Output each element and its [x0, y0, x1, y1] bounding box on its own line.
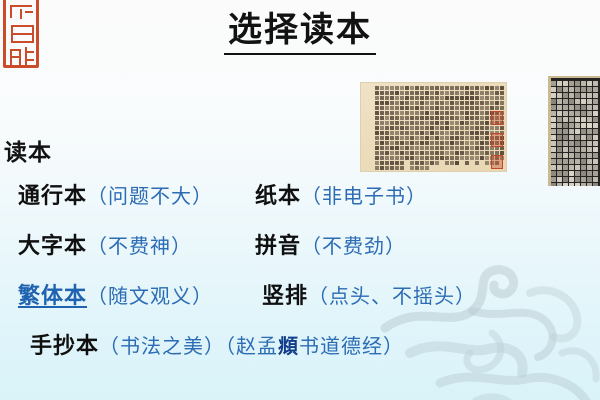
calligraphy-glyph	[390, 91, 394, 95]
calligraphy-column	[587, 81, 592, 186]
calligraphy-glyph	[490, 96, 494, 100]
calligraphy-glyph	[551, 147, 556, 152]
calligraphy-glyph	[375, 136, 379, 140]
calligraphy-glyph	[435, 101, 439, 105]
calligraphy-column	[375, 86, 379, 170]
calligraphy-glyph	[593, 165, 598, 170]
calligraphy-glyph	[395, 111, 399, 115]
calligraphy-glyph	[425, 131, 429, 135]
calligraphy-glyph	[563, 111, 568, 116]
calligraphy-glyph	[569, 159, 574, 164]
calligraphy-glyph	[563, 93, 568, 98]
calligraphy-glyph	[405, 146, 409, 150]
calligraphy-glyph	[420, 136, 424, 140]
calligraphy-glyph	[405, 141, 409, 145]
calligraphy-glyph	[395, 151, 399, 155]
calligraphy-glyph	[440, 121, 444, 125]
calligraphy-glyph	[450, 131, 454, 135]
calligraphy-glyph	[569, 93, 574, 98]
calligraphy-glyph	[470, 86, 474, 90]
calligraphy-glyph	[480, 136, 484, 140]
calligraphy-glyph	[587, 171, 592, 176]
calligraphy-glyph	[440, 141, 444, 145]
calligraphy-glyph	[593, 87, 598, 92]
calligraphy-glyph	[415, 121, 419, 125]
calligraphy-glyph	[395, 116, 399, 120]
calligraphy-glyph	[460, 101, 464, 105]
calligraphy-glyph	[581, 123, 586, 128]
calligraphy-glyph	[551, 81, 556, 86]
calligraphy-glyph	[593, 99, 598, 104]
edition-note: （不费劲）	[301, 236, 406, 258]
calligraphy-glyph	[395, 101, 399, 105]
calligraphy-glyph	[455, 86, 459, 90]
calligraphy-glyph	[430, 141, 434, 145]
calligraphy-glyph	[569, 165, 574, 170]
calligraphy-glyph	[575, 141, 580, 146]
calligraphy-glyph	[557, 171, 562, 176]
calligraphy-glyph	[425, 121, 429, 125]
calligraphy-glyph	[455, 111, 459, 115]
calligraphy-glyph	[455, 91, 459, 95]
calligraphy-glyph	[405, 86, 409, 90]
calligraphy-glyph	[375, 131, 379, 135]
calligraphy-glyph	[425, 126, 429, 130]
calligraphy-glyph	[587, 123, 592, 128]
calligraphy-glyph	[425, 106, 429, 110]
calligraphy-glyph	[460, 121, 464, 125]
calligraphy-glyph	[380, 96, 384, 100]
calligraphy-glyph	[569, 135, 574, 140]
calligraphy-glyph	[380, 116, 384, 120]
calligraphy-glyph	[480, 106, 484, 110]
calligraphy-glyph	[400, 121, 404, 125]
calligraphy-glyph	[395, 126, 399, 130]
calligraphy-glyph	[460, 141, 464, 145]
manuscript-seal-icon	[491, 155, 503, 169]
calligraphy-glyph	[563, 81, 568, 86]
calligraphy-glyph	[485, 146, 489, 150]
calligraphy-glyph	[475, 151, 479, 155]
calligraphy-glyph	[551, 165, 556, 170]
list-item-left: 大字本（不费神）	[18, 230, 192, 263]
calligraphy-glyph	[410, 111, 414, 115]
calligraphy-glyph	[410, 116, 414, 120]
calligraphy-manuscript-image	[360, 82, 507, 172]
calligraphy-glyph	[455, 136, 459, 140]
calligraphy-glyph	[410, 161, 414, 165]
calligraphy-glyph	[575, 87, 580, 92]
calligraphy-glyph	[593, 153, 598, 158]
list-item: 手抄本（书法之美）（赵孟頫书道德经）	[0, 330, 600, 380]
calligraphy-glyph	[420, 96, 424, 100]
calligraphy-column	[415, 86, 419, 170]
calligraphy-glyph	[551, 129, 556, 134]
calligraphy-glyph	[400, 161, 404, 165]
calligraphy-glyph	[380, 91, 384, 95]
calligraphy-column	[420, 86, 424, 170]
calligraphy-glyph	[485, 136, 489, 140]
calligraphy-glyph	[415, 106, 419, 110]
calligraphy-glyph	[445, 106, 449, 110]
calligraphy-glyph	[420, 146, 424, 150]
section-heading: 读本	[4, 133, 52, 167]
calligraphy-glyph	[480, 86, 484, 90]
calligraphy-glyph	[450, 116, 454, 120]
calligraphy-glyph	[485, 151, 489, 155]
calligraphy-glyph	[405, 111, 409, 115]
calligraphy-glyph	[390, 121, 394, 125]
calligraphy-glyph	[400, 126, 404, 130]
calligraphy-glyph	[385, 86, 389, 90]
calligraphy-glyph	[430, 161, 434, 165]
calligraphy-glyph	[405, 116, 409, 120]
calligraphy-glyph	[480, 96, 484, 100]
calligraphy-glyph	[425, 156, 429, 160]
calligraphy-glyph	[485, 121, 489, 125]
calligraphy-glyph	[575, 147, 580, 152]
calligraphy-glyph	[465, 136, 469, 140]
calligraphy-glyph	[440, 106, 444, 110]
calligraphy-glyph	[380, 121, 384, 125]
calligraphy-glyph	[460, 116, 464, 120]
calligraphy-glyph	[450, 156, 454, 160]
calligraphy-glyph	[375, 161, 379, 165]
calligraphy-glyph	[470, 116, 474, 120]
edition-label-link[interactable]: 繁体本	[18, 283, 87, 308]
calligraphy-glyph	[470, 151, 474, 155]
calligraphy-glyph	[375, 121, 379, 125]
calligraphy-glyph	[380, 131, 384, 135]
calligraphy-glyph	[500, 86, 504, 90]
calligraphy-column	[480, 86, 484, 160]
calligraphy-glyph	[490, 126, 494, 130]
calligraphy-glyph	[440, 91, 444, 95]
calligraphy-glyph	[400, 96, 404, 100]
calligraphy-glyph	[551, 105, 556, 110]
calligraphy-glyph	[445, 111, 449, 115]
calligraphy-glyph	[425, 166, 429, 170]
calligraphy-glyph	[557, 123, 562, 128]
calligraphy-glyph	[470, 146, 474, 150]
calligraphy-glyph	[405, 106, 409, 110]
calligraphy-glyph	[420, 101, 424, 105]
calligraphy-glyph	[445, 156, 449, 160]
calligraphy-glyph	[425, 146, 429, 150]
calligraphy-glyph	[460, 151, 464, 155]
calligraphy-glyph	[425, 101, 429, 105]
calligraphy-glyph	[575, 99, 580, 104]
calligraphy-glyph	[587, 117, 592, 122]
calligraphy-glyph	[581, 147, 586, 152]
calligraphy-glyph	[415, 141, 419, 145]
calligraphy-glyph	[465, 96, 469, 100]
list-item-left: 繁体本（随文观义）	[18, 280, 213, 313]
calligraphy-glyph	[430, 91, 434, 95]
calligraphy-glyph	[410, 166, 414, 170]
calligraphy-glyph	[557, 159, 562, 164]
calligraphy-glyph	[430, 101, 434, 105]
calligraphy-glyph	[485, 96, 489, 100]
calligraphy-glyph	[465, 146, 469, 150]
calligraphy-glyph	[475, 121, 479, 125]
calligraphy-glyph	[581, 165, 586, 170]
calligraphy-glyph	[557, 165, 562, 170]
calligraphy-glyph	[475, 161, 479, 165]
calligraphy-glyph	[575, 129, 580, 134]
calligraphy-glyph	[593, 111, 598, 116]
calligraphy-glyph	[569, 87, 574, 92]
calligraphy-glyph	[485, 91, 489, 95]
calligraphy-glyph	[569, 147, 574, 152]
calligraphy-glyph	[587, 87, 592, 92]
calligraphy-glyph	[430, 131, 434, 135]
calligraphy-glyph	[435, 136, 439, 140]
calligraphy-glyph	[415, 146, 419, 150]
calligraphy-glyph	[385, 146, 389, 150]
calligraphy-glyph	[450, 111, 454, 115]
calligraphy-glyph	[390, 96, 394, 100]
page-title-text: 选择读本	[224, 10, 376, 55]
calligraphy-glyph	[430, 126, 434, 130]
edition-note: （问题不大）	[87, 186, 213, 208]
calligraphy-glyph	[410, 86, 414, 90]
calligraphy-glyph	[563, 129, 568, 134]
calligraphy-glyph	[390, 106, 394, 110]
calligraphy-glyph	[587, 111, 592, 116]
calligraphy-glyph	[480, 131, 484, 135]
calligraphy-glyph	[455, 146, 459, 150]
calligraphy-glyph	[380, 111, 384, 115]
calligraphy-glyph	[430, 116, 434, 120]
calligraphy-glyph	[587, 165, 592, 170]
calligraphy-glyph	[405, 101, 409, 105]
calligraphy-glyph	[485, 106, 489, 110]
calligraphy-glyph	[445, 136, 449, 140]
calligraphy-glyph	[375, 96, 379, 100]
calligraphy-glyph	[380, 106, 384, 110]
calligraphy-glyph	[581, 111, 586, 116]
calligraphy-column	[490, 86, 494, 165]
calligraphy-glyph	[380, 146, 384, 150]
calligraphy-glyph	[475, 156, 479, 160]
calligraphy-glyph	[495, 86, 499, 90]
calligraphy-glyph	[440, 136, 444, 140]
calligraphy-glyph	[400, 86, 404, 90]
calligraphy-glyph	[380, 156, 384, 160]
calligraphy-glyph	[500, 91, 504, 95]
calligraphy-glyph	[390, 141, 394, 145]
calligraphy-glyph	[430, 156, 434, 160]
calligraphy-glyph	[490, 86, 494, 90]
calligraphy-glyph	[435, 116, 439, 120]
edition-note: （点头、不摇头）	[308, 286, 476, 308]
calligraphy-glyph	[375, 106, 379, 110]
calligraphy-glyph	[551, 153, 556, 158]
calligraphy-glyph	[551, 123, 556, 128]
calligraphy-column	[425, 86, 429, 170]
calligraphy-glyph	[440, 86, 444, 90]
calligraphy-glyph	[405, 151, 409, 155]
calligraphy-glyph	[445, 91, 449, 95]
calligraphy-glyph	[593, 117, 598, 122]
calligraphy-glyph	[465, 141, 469, 145]
calligraphy-glyph	[375, 111, 379, 115]
calligraphy-column	[435, 86, 439, 165]
calligraphy-glyph	[420, 86, 424, 90]
calligraphy-glyph	[380, 151, 384, 155]
calligraphy-glyph	[485, 101, 489, 105]
edition-note: （非电子书）	[301, 186, 427, 208]
calligraphy-glyph	[465, 161, 469, 165]
calligraphy-glyph	[480, 146, 484, 150]
calligraphy-glyph	[385, 156, 389, 160]
calligraphy-glyph	[470, 156, 474, 160]
calligraphy-glyph	[563, 99, 568, 104]
calligraphy-glyph	[385, 111, 389, 115]
calligraphy-glyph	[460, 106, 464, 110]
edition-label: 竖排	[262, 283, 308, 308]
calligraphy-glyph	[420, 141, 424, 145]
calligraphy-glyph	[385, 96, 389, 100]
calligraphy-glyph	[380, 126, 384, 130]
calligraphy-glyph	[587, 147, 592, 152]
calligraphy-glyph	[450, 91, 454, 95]
calligraphy-glyph	[415, 86, 419, 90]
calligraphy-column	[593, 81, 598, 186]
calligraphy-glyph	[390, 101, 394, 105]
calligraphy-glyph	[385, 131, 389, 135]
calligraphy-glyph	[390, 161, 394, 165]
calligraphy-glyph	[575, 111, 580, 116]
calligraphy-glyph	[400, 111, 404, 115]
calligraphy-glyph	[435, 96, 439, 100]
calligraphy-glyph	[455, 141, 459, 145]
calligraphy-glyph	[465, 86, 469, 90]
calligraphy-glyph	[415, 116, 419, 120]
edition-note-pre: （赵孟	[225, 336, 278, 358]
calligraphy-glyph	[395, 86, 399, 90]
calligraphy-glyph	[390, 166, 394, 170]
calligraphy-glyph	[455, 96, 459, 100]
calligraphy-glyph	[395, 166, 399, 170]
calligraphy-column	[450, 86, 454, 165]
list-item-left: 通行本（问题不大）	[18, 180, 213, 213]
calligraphy-glyph	[385, 136, 389, 140]
calligraphy-glyph	[400, 141, 404, 145]
calligraphy-glyph	[569, 81, 574, 86]
calligraphy-glyph	[581, 135, 586, 140]
calligraphy-glyph	[420, 111, 424, 115]
calligraphy-glyph	[593, 81, 598, 86]
edition-label: 通行本	[18, 183, 87, 208]
calligraphy-glyph	[557, 141, 562, 146]
edition-note: （随文观义）	[87, 286, 213, 308]
calligraphy-glyph	[395, 136, 399, 140]
list-item: 繁体本（随文观义） 竖排（点头、不摇头）	[0, 280, 600, 330]
calligraphy-glyph	[593, 123, 598, 128]
calligraphy-glyph	[575, 93, 580, 98]
calligraphy-glyph	[415, 156, 419, 160]
calligraphy-glyph	[415, 166, 419, 170]
calligraphy-glyph	[563, 87, 568, 92]
calligraphy-glyph	[420, 106, 424, 110]
calligraphy-glyph	[465, 126, 469, 130]
calligraphy-glyph	[445, 151, 449, 155]
calligraphy-glyph	[563, 105, 568, 110]
calligraphy-glyph	[575, 171, 580, 176]
calligraphy-glyph	[495, 96, 499, 100]
calligraphy-glyph	[475, 106, 479, 110]
calligraphy-glyph	[575, 117, 580, 122]
calligraphy-glyph	[435, 121, 439, 125]
calligraphy-glyph	[575, 165, 580, 170]
calligraphy-column	[410, 86, 414, 170]
calligraphy-glyph	[569, 99, 574, 104]
calligraphy-glyph	[410, 91, 414, 95]
calligraphy-glyph	[415, 96, 419, 100]
calligraphy-glyph	[420, 166, 424, 170]
calligraphy-glyph	[557, 111, 562, 116]
calligraphy-glyph	[375, 126, 379, 130]
calligraphy-glyph	[563, 123, 568, 128]
calligraphy-glyph	[425, 151, 429, 155]
calligraphy-glyph	[557, 117, 562, 122]
calligraphy-glyph	[581, 129, 586, 134]
calligraphy-glyph	[390, 86, 394, 90]
calligraphy-glyph	[385, 116, 389, 120]
calligraphy-glyph	[587, 135, 592, 140]
calligraphy-glyph	[563, 159, 568, 164]
calligraphy-glyph	[390, 156, 394, 160]
calligraphy-glyph	[400, 91, 404, 95]
calligraphy-glyph	[500, 126, 504, 130]
calligraphy-glyph	[557, 129, 562, 134]
calligraphy-column	[465, 86, 469, 165]
calligraphy-glyph	[420, 126, 424, 130]
list-item-left: 手抄本（书法之美）（赵孟頫书道德经）	[30, 330, 404, 363]
calligraphy-glyph	[587, 81, 592, 86]
calligraphy-glyph	[470, 106, 474, 110]
calligraphy-glyph	[485, 141, 489, 145]
calligraphy-glyph	[593, 141, 598, 146]
calligraphy-glyph	[445, 101, 449, 105]
calligraphy-glyph	[400, 101, 404, 105]
calligraphy-glyph	[445, 131, 449, 135]
calligraphy-glyph	[385, 121, 389, 125]
calligraphy-glyph	[380, 86, 384, 90]
calligraphy-glyph	[440, 156, 444, 160]
calligraphy-glyph	[455, 126, 459, 130]
calligraphy-glyph	[375, 86, 379, 90]
calligraphy-glyph	[385, 151, 389, 155]
calligraphy-glyph	[563, 153, 568, 158]
calligraphy-glyph	[569, 153, 574, 158]
calligraphy-glyph	[581, 81, 586, 86]
calligraphy-glyph	[465, 151, 469, 155]
calligraphy-glyph	[455, 121, 459, 125]
calligraphy-glyph	[551, 159, 556, 164]
calligraphy-glyph	[445, 126, 449, 130]
calligraphy-glyph	[460, 126, 464, 130]
calligraphy-glyph	[390, 126, 394, 130]
calligraphy-glyph	[465, 106, 469, 110]
calligraphy-glyph	[390, 111, 394, 115]
calligraphy-glyph	[581, 93, 586, 98]
calligraphy-glyph	[375, 146, 379, 150]
calligraphy-column	[551, 81, 556, 186]
calligraphy-glyph	[587, 141, 592, 146]
